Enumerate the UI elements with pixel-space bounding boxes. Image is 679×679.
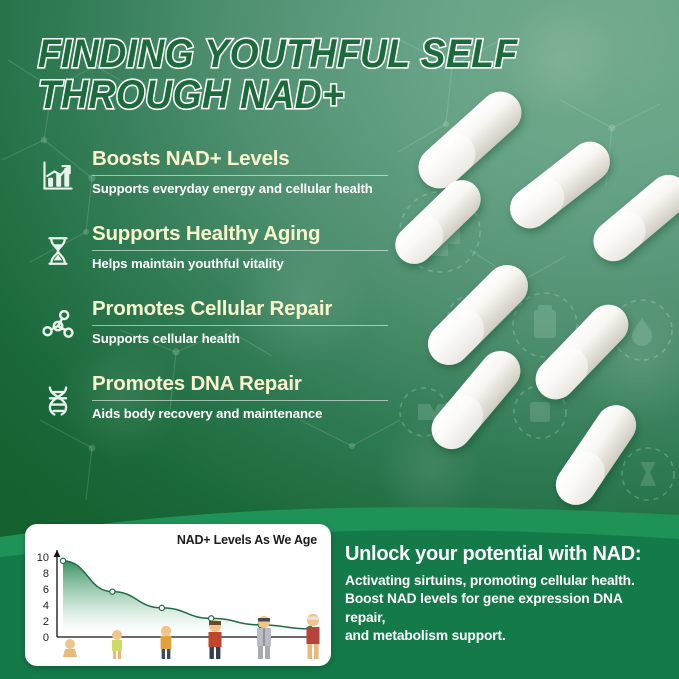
feature-item-boosts-nad-levels: Boosts NAD+ Levels Supports everyday ene…: [36, 146, 388, 200]
dna-helix-icon: [36, 377, 80, 425]
feature-subtitle: Helps maintain youthful vitality: [92, 256, 388, 272]
y-tick-6: 6: [31, 584, 49, 596]
feature-underline: [92, 250, 388, 251]
age-figure-adult: [204, 618, 226, 660]
feature-item-supports-healthy-aging: Supports Healthy Aging Helps maintain yo…: [36, 221, 388, 275]
age-figure-youth: [156, 624, 176, 660]
age-figure-middle-aged: [253, 614, 275, 660]
feature-subtitle: Aids body recovery and maintenance: [92, 406, 388, 422]
feature-item-promotes-dna-repair: Promotes DNA Repair Aids body recovery a…: [36, 371, 388, 425]
y-tick-4: 4: [31, 600, 49, 612]
y-tick-2: 2: [31, 616, 49, 628]
y-tick-0: 0: [31, 632, 49, 644]
age-figure-child: [107, 628, 127, 660]
feature-subtitle: Supports everyday energy and cellular he…: [92, 181, 388, 197]
feature-underline: [92, 175, 388, 176]
feature-heading: Promotes DNA Repair: [92, 373, 388, 396]
feature-heading: Boosts NAD+ Levels: [92, 148, 388, 171]
y-tick-8: 8: [31, 568, 49, 580]
molecule-icon: [36, 302, 80, 350]
bar-chart-growth-icon: [36, 152, 80, 200]
feature-underline: [92, 400, 388, 401]
y-tick-10: 10: [31, 552, 49, 564]
age-figure-elderly: [302, 612, 324, 660]
promo-body: Activating sirtuins, promoting cellular …: [345, 572, 663, 645]
feature-heading: Promotes Cellular Repair: [92, 298, 388, 321]
feature-underline: [92, 325, 388, 326]
feature-list: Boosts NAD+ Levels Supports everyday ene…: [36, 146, 388, 446]
feature-subtitle: Supports cellular health: [92, 331, 388, 347]
hourglass-icon: [36, 227, 80, 275]
page-title: FINDING YOUTHFUL SELF THROUGH NAD+: [38, 34, 522, 116]
feature-heading: Supports Healthy Aging: [92, 223, 388, 246]
nad-decline-chart-card: NAD+ Levels As We Age 10 8 6 4 2 0: [25, 524, 331, 666]
age-figure-baby: [59, 634, 81, 660]
promo-heading: Unlock your potential with NAD:: [345, 543, 663, 566]
chart-title: NAD+ Levels As We Age: [177, 533, 317, 547]
feature-item-promotes-cellular-repair: Promotes Cellular Repair Supports cellul…: [36, 296, 388, 350]
poster-canvas: FINDING YOUTHFUL SELF THROUGH NAD+: [0, 0, 679, 679]
promo-block: Unlock your potential with NAD: Activati…: [345, 543, 663, 645]
